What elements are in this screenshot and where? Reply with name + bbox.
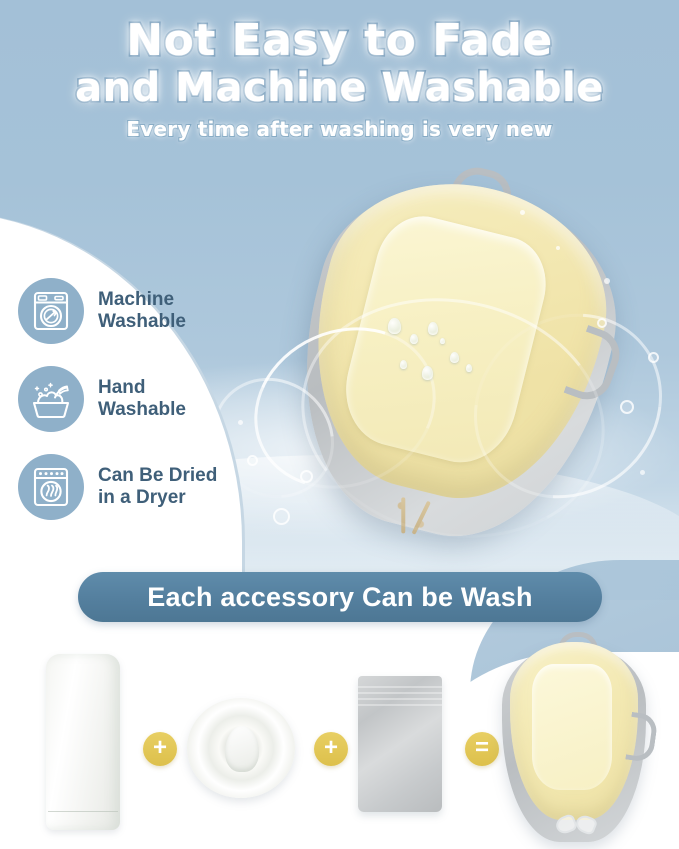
equals-badge: = (465, 732, 499, 766)
feature-label-hand-washable: Hand Washable (98, 377, 186, 422)
feature-label-dryer-safe: Can Be Dried in a Dryer (98, 465, 217, 510)
plus-badge-2: + (314, 732, 348, 766)
surface-water-droplets (300, 300, 480, 420)
feature-item-hand-washable: Hand Washable (18, 366, 268, 432)
tumble-dryer-icon (18, 454, 84, 520)
feature-label-machine-washable: Machine Washable (98, 289, 186, 334)
plus-icon: + (153, 736, 167, 760)
result-inner-mattress (532, 664, 612, 790)
subheadline: Every time after washing is very new (0, 117, 679, 141)
accessory-equation-row: + + = (0, 636, 679, 849)
feature-item-machine-washable: Machine Washable (18, 278, 268, 344)
headline-line-1: Not Easy to Fade (0, 18, 679, 65)
header-block: Not Easy to Fade and Machine Washable Ev… (0, 18, 679, 141)
plus-icon: + (324, 736, 338, 760)
plus-badge-1: + (143, 732, 177, 766)
hand-wash-basin-icon (18, 366, 84, 432)
product-infographic: Not Easy to Fade and Machine Washable Ev… (0, 0, 679, 849)
folded-gray-sheet (358, 676, 442, 812)
coiled-bumper-pillow (187, 698, 295, 798)
headline-line-2: and Machine Washable (0, 67, 679, 109)
mattress-pad-cover (46, 654, 120, 830)
bumper-center (225, 726, 259, 772)
accessory-banner: Each accessory Can be Wash (78, 572, 602, 622)
feature-item-dryer-safe: Can Be Dried in a Dryer (18, 454, 268, 520)
result-handle-side (625, 712, 658, 763)
accessory-banner-text: Each accessory Can be Wash (147, 582, 532, 613)
washing-machine-icon (18, 278, 84, 344)
assembled-baby-lounger (500, 638, 650, 846)
equals-icon: = (475, 736, 489, 760)
feature-list: Machine Washable Hand Washable (18, 278, 268, 542)
result-bow-tie (556, 814, 596, 840)
